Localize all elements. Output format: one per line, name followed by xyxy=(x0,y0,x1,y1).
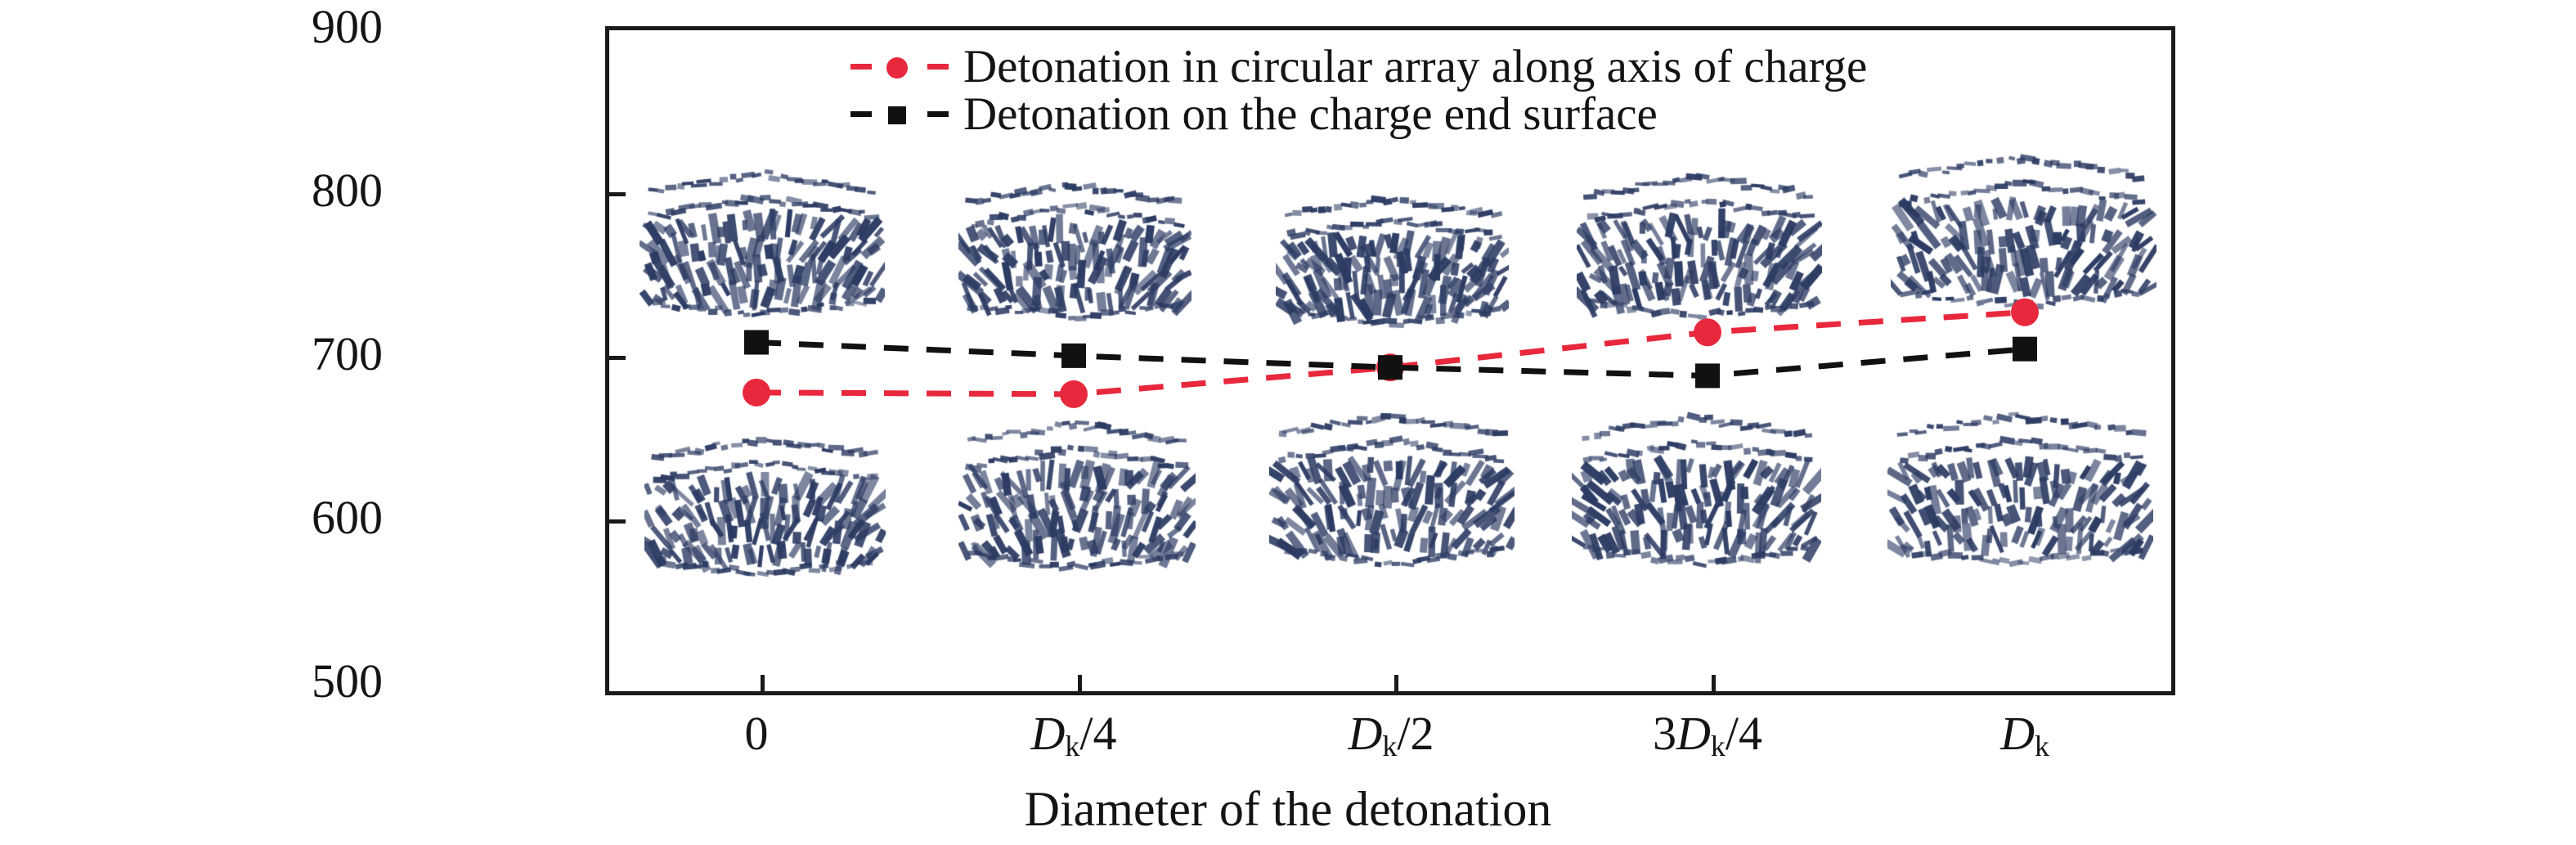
legend-key-square xyxy=(850,101,949,126)
legend-label-0: Detonation in circular array along axis … xyxy=(963,43,1867,90)
legend-item-0: Detonation in circular array along axis … xyxy=(850,43,1867,90)
y-tick-label-900: 900 xyxy=(186,3,383,51)
chart-figure: Velocity/(m·s−1) 900 800 700 600 500 0 D… xyxy=(0,0,2576,845)
fragment-cloud-lower-2 xyxy=(1269,405,1515,585)
fragment-cloud-upper-0 xyxy=(640,164,885,335)
fragment-cloud-lower-4 xyxy=(1887,405,2153,585)
y-tick-label-700: 700 xyxy=(186,330,383,378)
legend-item-1: Detonation on the charge end surface xyxy=(850,90,1867,137)
legend-dash-left-icon xyxy=(850,111,872,117)
legend-key-circle xyxy=(850,54,949,79)
y-tick-mark-700 xyxy=(608,356,626,360)
x-axis-title: Diameter of the detonation xyxy=(0,781,2576,838)
fragment-cloud-upper-2 xyxy=(1276,190,1509,341)
y-tick-label-600: 600 xyxy=(186,494,383,542)
legend-dash-right-icon xyxy=(927,64,949,70)
square-marker-icon xyxy=(888,106,906,124)
legend-label-1: Detonation on the charge end surface xyxy=(963,91,1658,137)
y-tick-label-800: 800 xyxy=(186,167,383,214)
fragment-cloud-lower-0 xyxy=(644,429,886,593)
fragment-cloud-upper-3 xyxy=(1577,168,1822,335)
fragment-cloud-upper-1 xyxy=(958,176,1192,335)
x-tick-label-0: 0 xyxy=(634,710,879,757)
legend: Detonation in circular array along axis … xyxy=(850,43,1867,137)
y-tick-mark-800 xyxy=(608,192,626,196)
x-tick-mark-3 xyxy=(1712,675,1716,693)
x-tick-label-1: Dk/4 xyxy=(951,710,1196,762)
x-tick-label-3: 3Dk/4 xyxy=(1585,710,1830,762)
x-tick-mark-0 xyxy=(761,675,765,693)
fragment-cloud-lower-1 xyxy=(958,413,1196,589)
x-tick-label-2: Dk/2 xyxy=(1268,710,1514,762)
x-tick-label-4: Dk xyxy=(1902,710,2147,762)
fragment-cloud-lower-3 xyxy=(1572,407,1821,583)
fragment-cloud-upper-4 xyxy=(1891,147,2156,327)
legend-dash-right-icon xyxy=(927,111,949,117)
y-tick-mark-600 xyxy=(608,519,626,524)
circle-marker-icon xyxy=(886,57,908,79)
legend-dash-left-icon xyxy=(850,64,872,70)
y-tick-label-500: 500 xyxy=(186,658,383,705)
x-tick-mark-1 xyxy=(1078,675,1082,693)
x-tick-mark-2 xyxy=(1394,675,1398,693)
